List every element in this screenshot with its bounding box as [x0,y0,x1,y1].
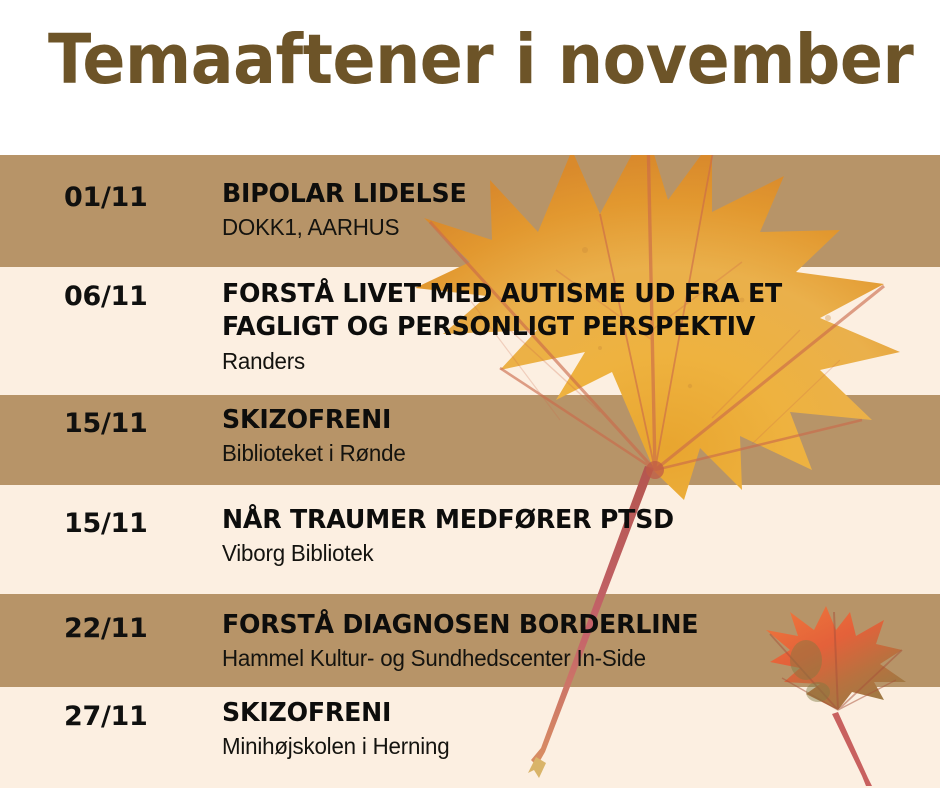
event-title: FORSTÅ LIVET MED AUTISME UD FRA ET FAGLI… [222,278,843,345]
event-venue: DOKK1, AARHUS [222,213,843,242]
event-title: FORSTÅ DIAGNOSEN BORDERLINE [222,609,843,642]
event-body: SKIZOFRENIBiblioteket i Rønde [222,404,862,468]
event-body: BIPOLAR LIDELSEDOKK1, AARHUS [222,178,862,242]
event-date: 22/11 [64,613,148,644]
event-venue: Minihøjskolen i Herning [222,732,843,761]
event-date: 15/11 [64,508,148,539]
event-body: FORSTÅ LIVET MED AUTISME UD FRA ET FAGLI… [222,278,862,375]
event-venue: Viborg Bibliotek [222,539,843,568]
event-venue: Randers [222,347,843,376]
event-date: 01/11 [64,182,148,213]
event-body: SKIZOFRENIMinihøjskolen i Herning [222,697,862,761]
event-title: SKIZOFRENI [222,404,843,437]
title-area: Temaaftener i november [0,0,940,155]
event-date: 06/11 [64,281,148,312]
event-venue: Hammel Kultur- og Sundhedscenter In-Side [222,644,843,673]
event-title: SKIZOFRENI [222,697,843,730]
event-body: NÅR TRAUMER MEDFØRER PTSDViborg Bibliote… [222,504,862,568]
event-title: BIPOLAR LIDELSE [222,178,843,211]
event-body: FORSTÅ DIAGNOSEN BORDERLINEHammel Kultur… [222,609,862,673]
page-title: Temaaftener i november [48,20,913,100]
event-date: 15/11 [64,408,148,439]
poster-canvas: 01/11BIPOLAR LIDELSEDOKK1, AARHUS06/11FO… [0,0,940,788]
event-date: 27/11 [64,701,148,732]
event-title: NÅR TRAUMER MEDFØRER PTSD [222,504,843,537]
event-venue: Biblioteket i Rønde [222,439,843,468]
